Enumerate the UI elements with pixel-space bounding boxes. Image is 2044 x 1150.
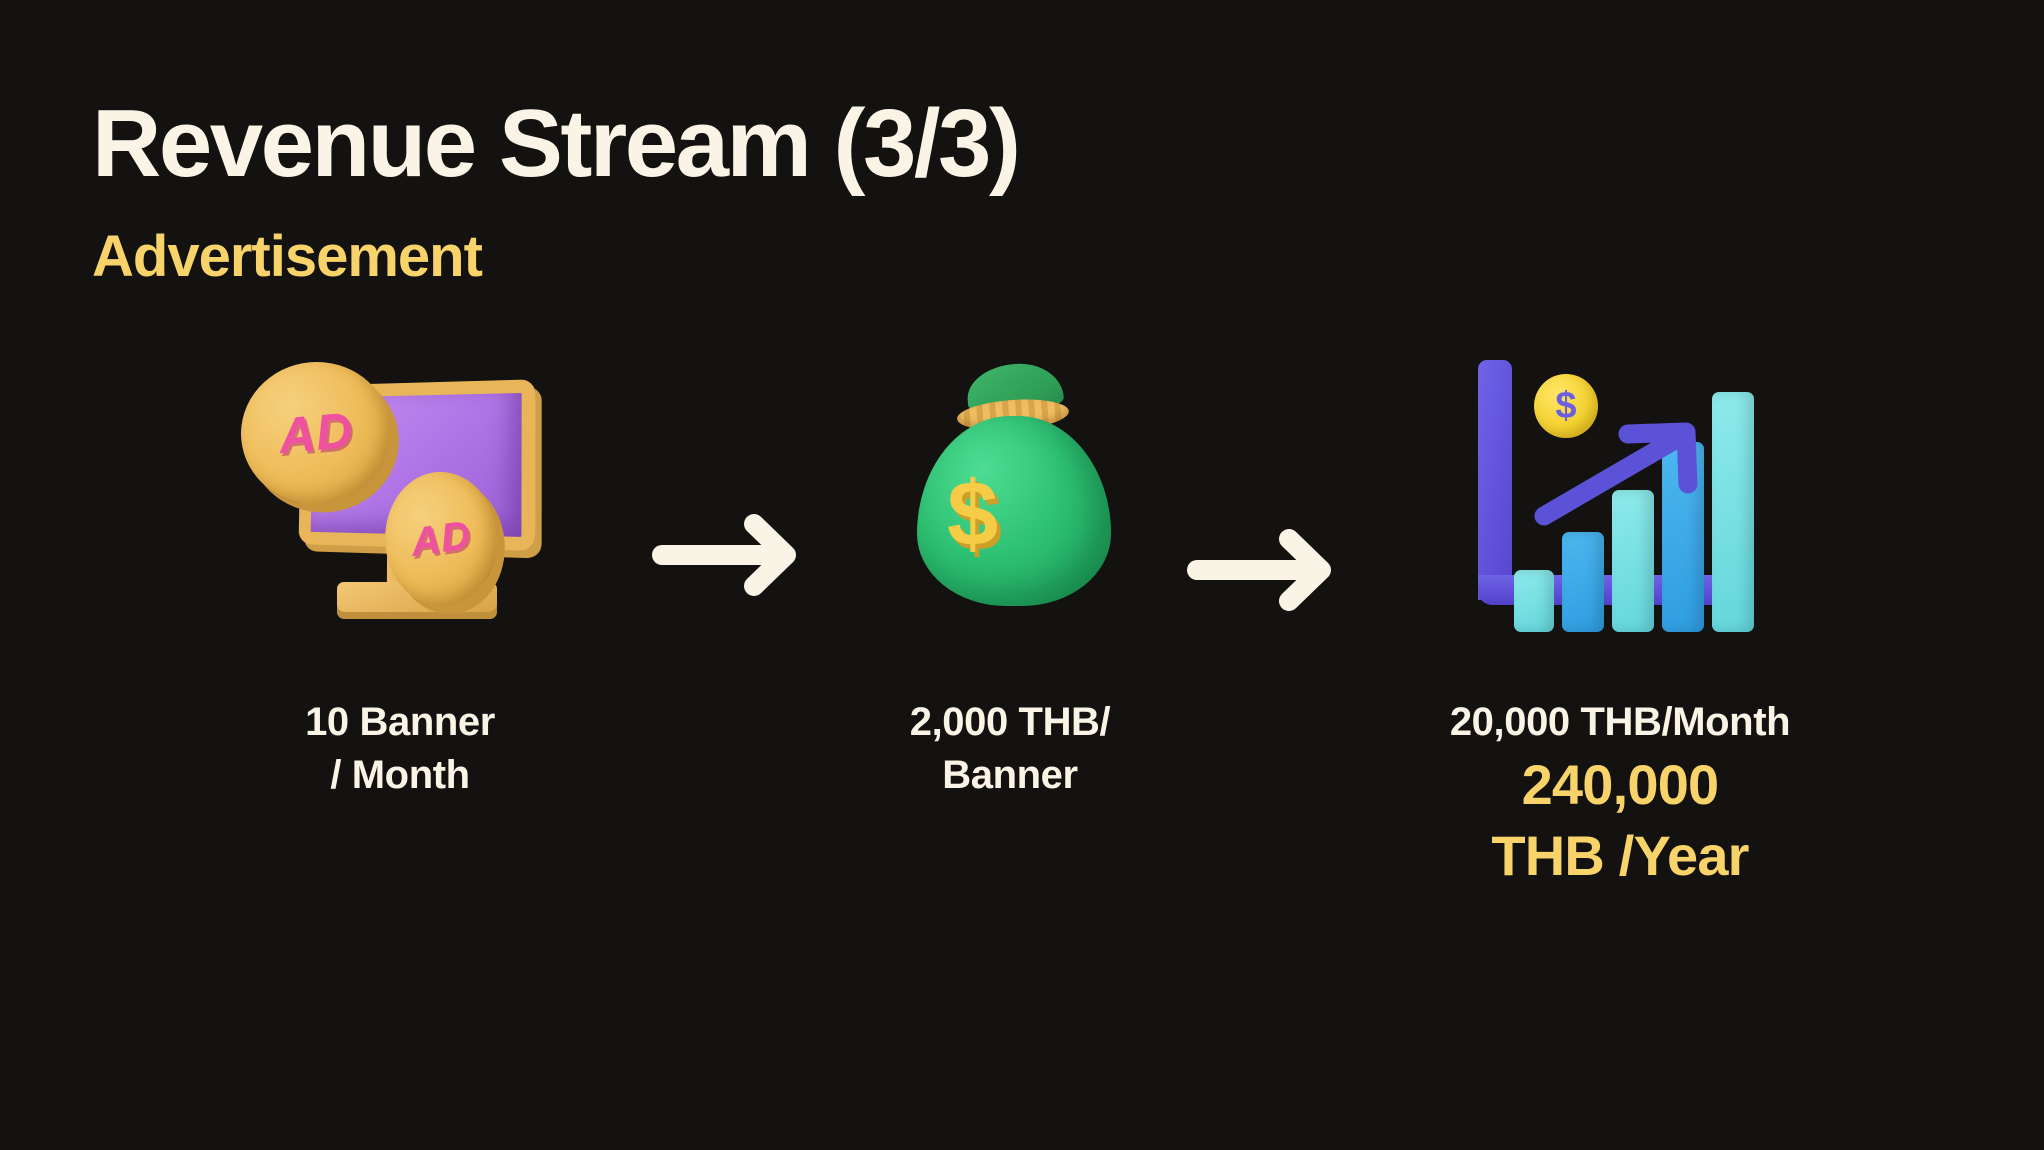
chart-bar <box>1514 570 1554 632</box>
caption-line: Banner <box>800 749 1220 802</box>
caption-line: / Month <box>140 749 660 802</box>
arrow-right-icon <box>650 510 810 600</box>
chart-bar <box>1562 532 1604 632</box>
growth-chart-icon: $ <box>1470 360 1770 660</box>
step-caption: 10 Banner / Month <box>140 696 660 802</box>
dollar-coin-icon: $ <box>1534 374 1598 438</box>
flow-step-revenue: $ 20,000 THB/Month 240,000 THB /Year <box>1340 360 1900 892</box>
caption-highlight-line: THB /Year <box>1340 820 1900 892</box>
flow-step-price: $ 2,000 THB/ Banner <box>800 360 1220 802</box>
heading-block: Revenue Stream (3/3) Advertisement <box>92 96 1492 286</box>
page-title: Revenue Stream (3/3) <box>92 96 1492 192</box>
caption-line: 10 Banner <box>140 696 660 749</box>
chart-y-axis-icon <box>1478 360 1512 600</box>
revenue-flow: AD AD 10 Banner / Month $ <box>0 360 2044 1060</box>
slide-root: Revenue Stream (3/3) Advertisement AD AD… <box>0 0 2044 1150</box>
dollar-sign-icon: $ <box>947 468 998 560</box>
ad-monitor-icon: AD AD <box>235 360 565 660</box>
caption-line: 20,000 THB/Month <box>1340 696 1900 749</box>
page-subtitle: Advertisement <box>92 228 1492 286</box>
arrow-right-icon <box>1185 525 1345 615</box>
caption-highlight-line: 240,000 <box>1340 749 1900 821</box>
flow-step-banners: AD AD 10 Banner / Month <box>140 360 660 802</box>
chart-bar <box>1712 392 1754 632</box>
money-bag-icon: $ <box>895 360 1125 660</box>
step-caption: 2,000 THB/ Banner <box>800 696 1220 802</box>
caption-line: 2,000 THB/ <box>800 696 1220 749</box>
step-caption: 20,000 THB/Month 240,000 THB /Year <box>1340 696 1900 892</box>
